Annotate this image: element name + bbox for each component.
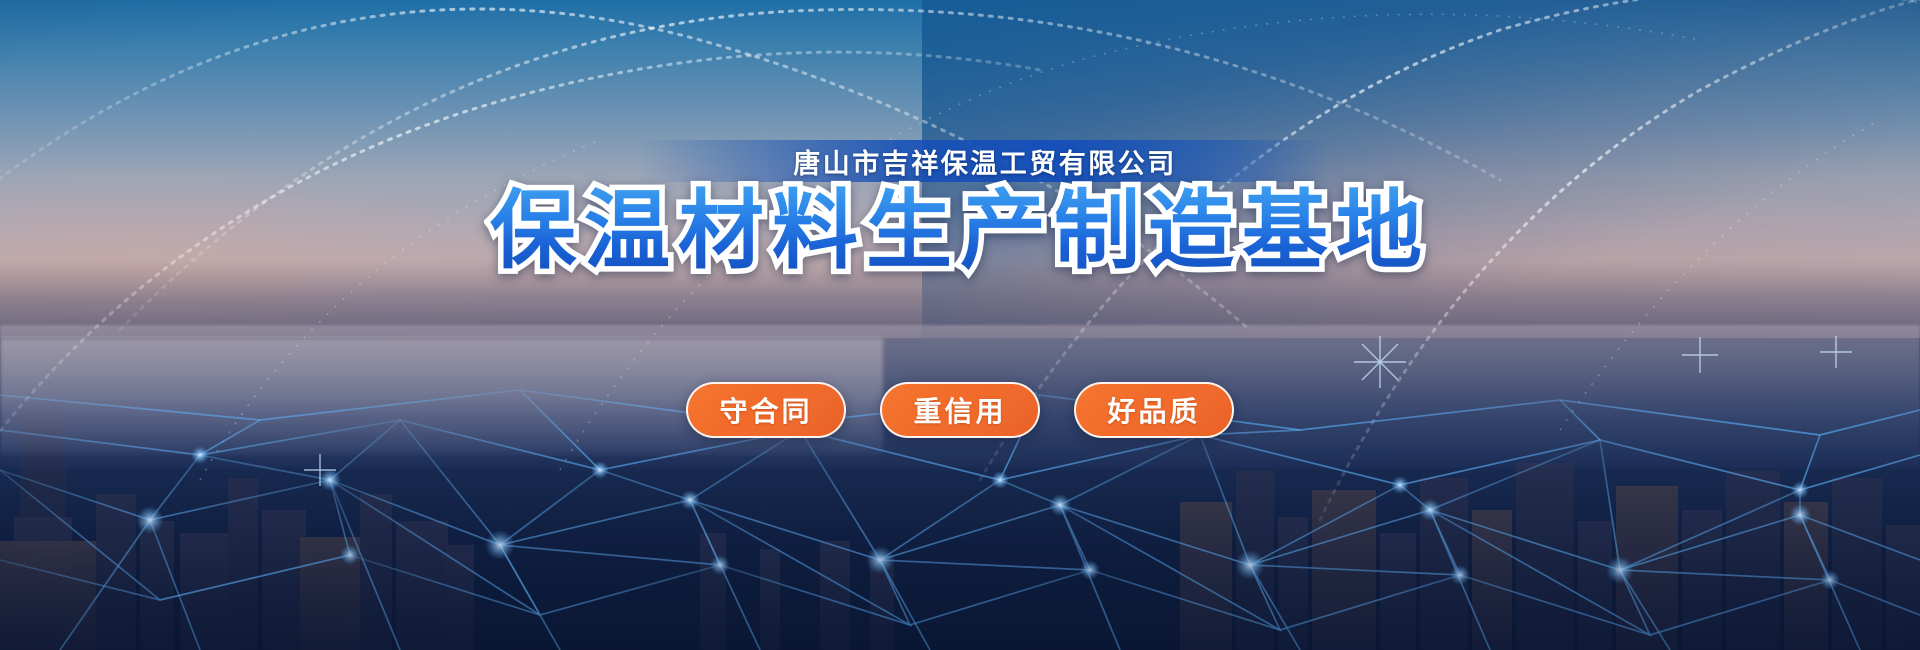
hero-banner: 唐山市吉祥保温工贸有限公司 保温材料生产制造基地 保温材料生产制造基地 守合同 …	[0, 0, 1920, 650]
company-name-bar: 唐山市吉祥保温工贸有限公司	[640, 140, 1330, 182]
badge-pill-label: 重信用	[913, 390, 1006, 430]
headline-text: 保温材料生产制造基地 保温材料生产制造基地	[490, 188, 1430, 274]
headline-container: 保温材料生产制造基地 保温材料生产制造基地	[0, 188, 1920, 274]
headline-fill-layer: 保温材料生产制造基地	[490, 183, 1430, 279]
badge-pill-credit[interactable]: 重信用	[880, 382, 1040, 438]
badge-pill-label: 守合同	[719, 390, 812, 430]
badge-pill-label: 好品质	[1107, 390, 1200, 430]
badge-pill-group: 守合同 重信用 好品质	[0, 382, 1920, 438]
company-name-text: 唐山市吉祥保温工贸有限公司	[793, 142, 1177, 181]
badge-pill-contract[interactable]: 守合同	[686, 382, 846, 438]
badge-pill-quality[interactable]: 好品质	[1074, 382, 1234, 438]
